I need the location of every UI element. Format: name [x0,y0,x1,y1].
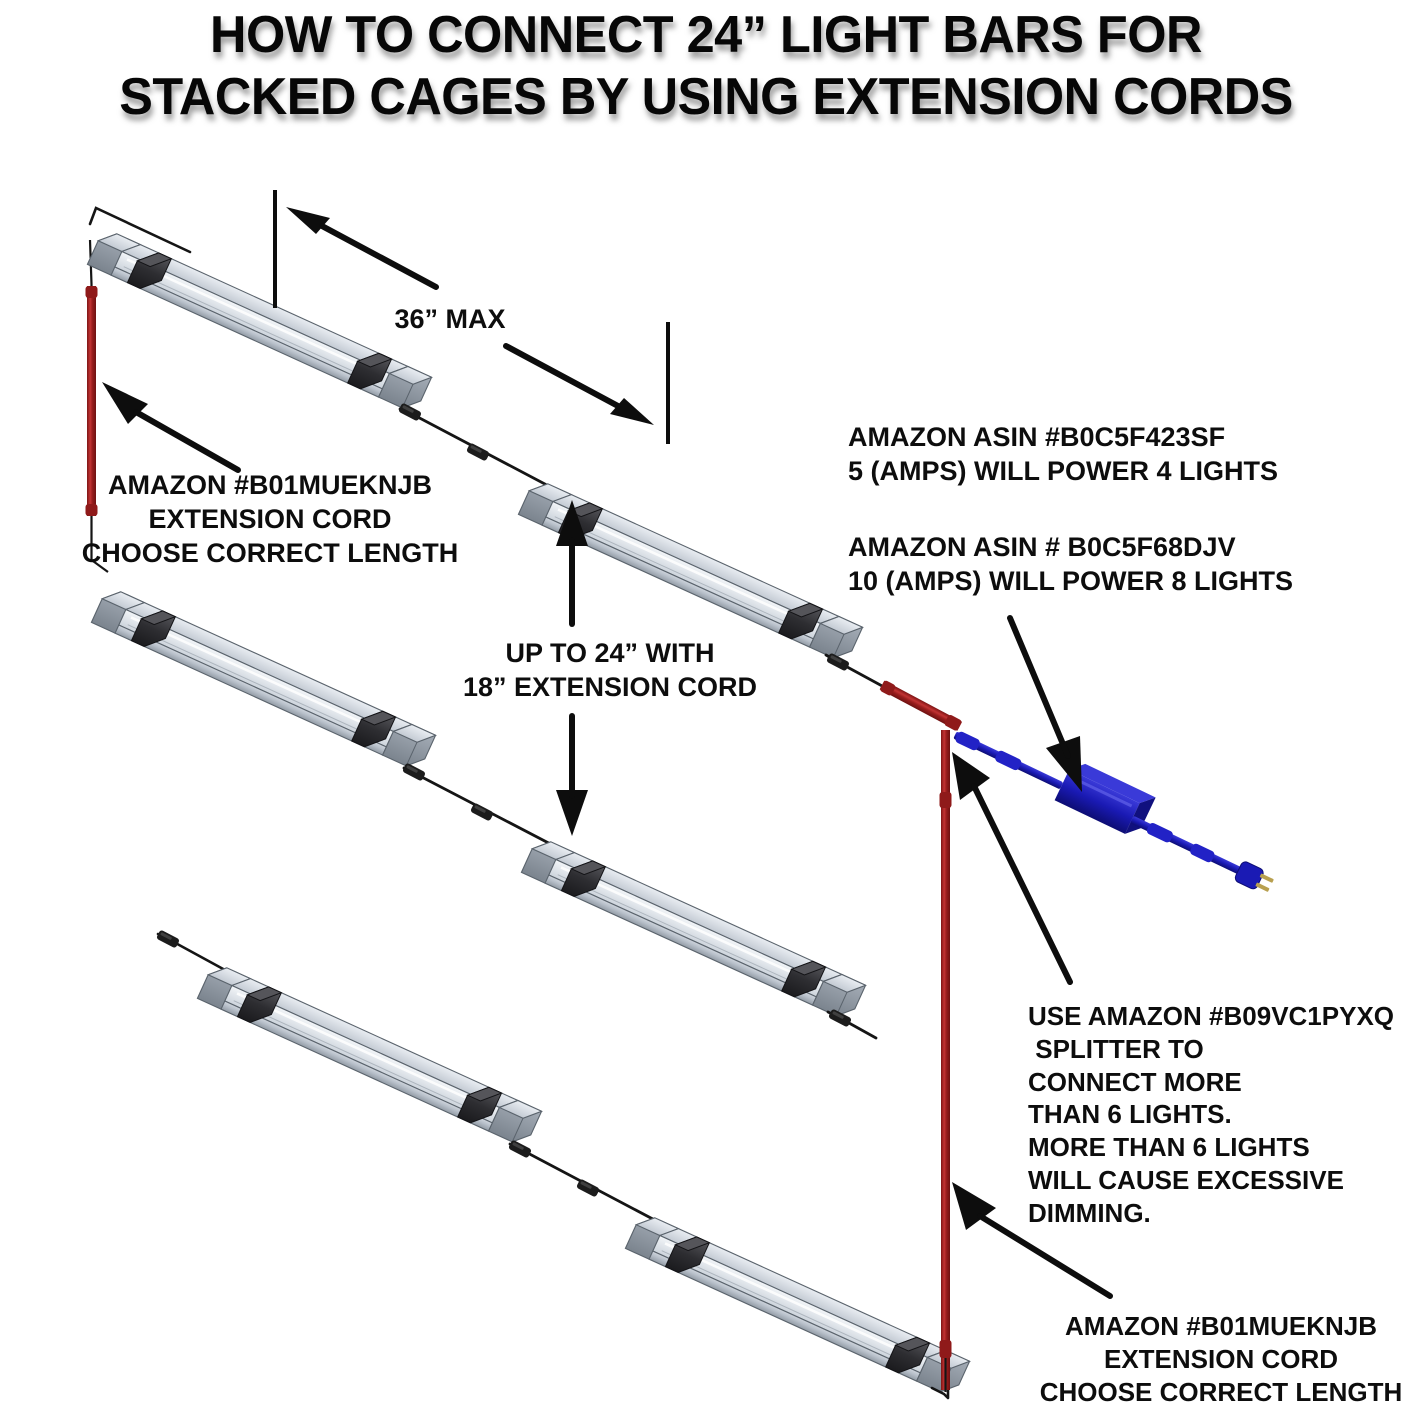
black-connector-cord [508,1139,666,1226]
label-up-to-24: UP TO 24” WITH 18” EXTENSION CORD [400,636,820,704]
label-asin-5-amp: AMAZON ASIN #B0C5F423SF 5 (AMPS) WILL PO… [848,420,1408,488]
light-bar [521,836,865,1022]
black-connector-cord [402,762,562,850]
diagram-canvas: { "title": { "line1": "HOW TO CONNECT 24… [0,0,1412,1414]
label-splitter-instructions: USE AMAZON #B09VC1PYXQ SPLITTER TO CONNE… [1028,1000,1412,1229]
light-bar [91,586,435,772]
label-max-span: 36” MAX [330,302,570,336]
label-extension-cord-bottom: AMAZON #B01MUEKNJB EXTENSION CORD CHOOSE… [1030,1310,1412,1408]
label-extension-cord-top-left: AMAZON #B01MUEKNJB EXTENSION CORD CHOOSE… [0,468,540,570]
black-connector-cord [828,1008,876,1038]
light-bar [625,1212,969,1398]
light-bar [197,962,541,1148]
blue-power-adapter [948,708,1284,900]
label-asin-10-amp: AMAZON ASIN # B0C5F68DJV 10 (AMPS) WILL … [848,530,1408,598]
red-splitter [879,680,962,1392]
wall-plug [1234,860,1276,895]
black-connector-cord [826,652,884,687]
